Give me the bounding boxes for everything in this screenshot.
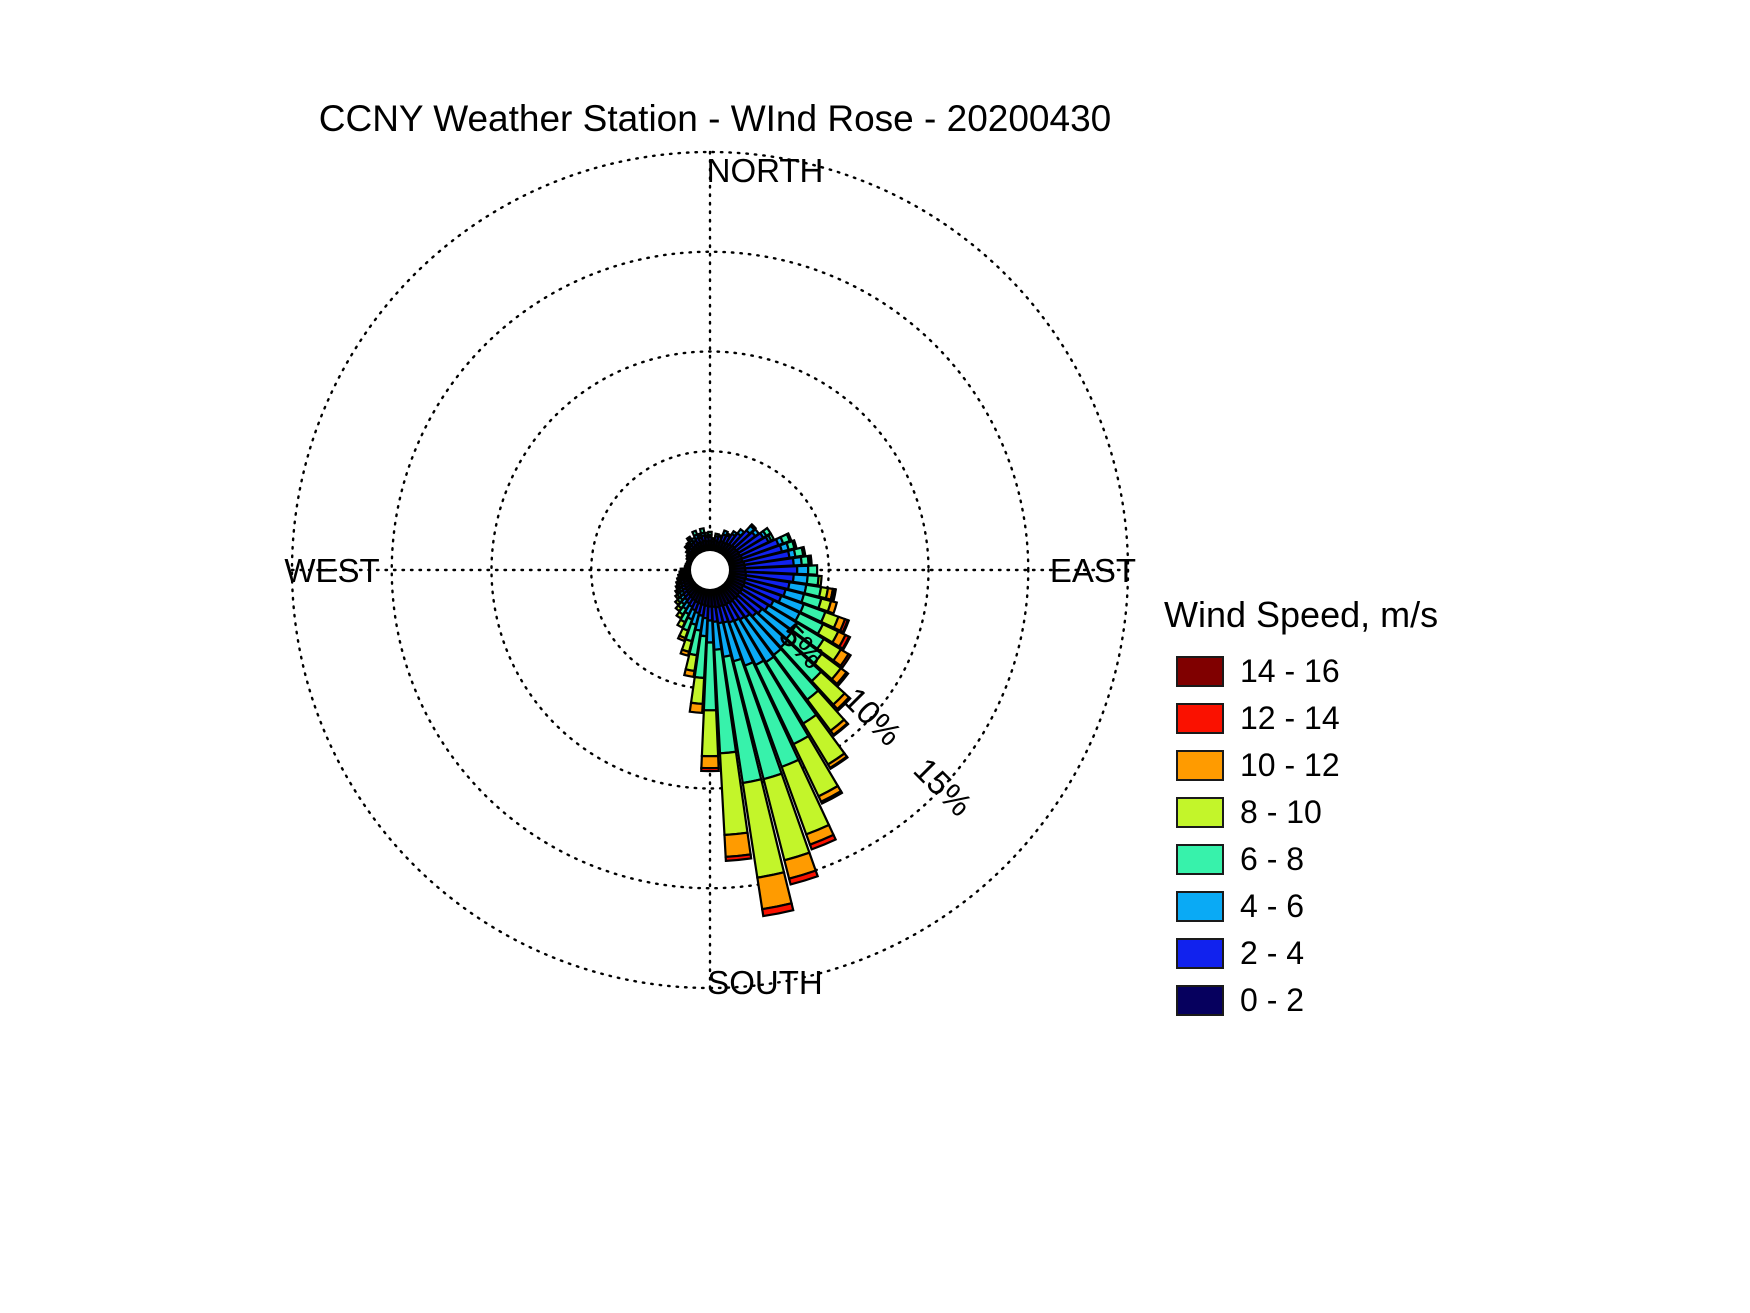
legend-item-0-2[interactable]: 0 - 2	[1176, 981, 1304, 1019]
rose-segment	[808, 565, 817, 574]
rose-segment	[702, 710, 718, 756]
legend-swatch-icon	[1176, 938, 1224, 969]
legend-item-6-8[interactable]: 6 - 8	[1176, 840, 1304, 878]
rose-segment	[684, 669, 694, 677]
rose-segment	[681, 569, 682, 572]
rose-segment	[687, 537, 691, 540]
legend-swatch-icon	[1176, 703, 1224, 734]
legend-swatch-icon	[1176, 844, 1224, 875]
wind-rose-petals	[675, 524, 850, 916]
legend-swatch-icon	[1176, 750, 1224, 781]
rose-segment	[724, 833, 750, 857]
legend-item-8-10[interactable]: 8 - 10	[1176, 793, 1322, 831]
rose-segment	[705, 533, 708, 536]
rose-segment	[706, 541, 709, 551]
compass-label-west: WEST	[284, 552, 379, 589]
legend-swatch-icon	[1176, 797, 1224, 828]
legend-item-label: 0 - 2	[1240, 984, 1304, 1016]
rose-segment	[802, 547, 806, 556]
compass-label-east: EAST	[1050, 552, 1136, 589]
legend-swatch-icon	[1176, 656, 1224, 687]
legend-title: Wind Speed, m/s	[1164, 594, 1438, 636]
rose-segment	[690, 703, 703, 713]
legend-item-label: 10 - 12	[1240, 749, 1340, 781]
rose-segment	[675, 600, 680, 605]
rose-segment	[677, 620, 685, 628]
rose-center-hole	[691, 551, 729, 589]
legend-item-label: 8 - 10	[1240, 796, 1322, 828]
legend-item-label: 2 - 4	[1240, 937, 1304, 969]
legend-item-label: 4 - 6	[1240, 890, 1304, 922]
legend-swatch-icon	[1176, 891, 1224, 922]
rose-segment	[681, 650, 689, 656]
rose-segment	[692, 531, 697, 536]
legend-swatch-icon	[1176, 985, 1224, 1016]
legend-item-14-16[interactable]: 14 - 16	[1176, 652, 1340, 690]
legend-panel: Wind Speed, m/s 14 - 1612 - 1410 - 128 -…	[1150, 580, 1750, 1030]
rose-segment	[797, 566, 808, 575]
rose-segment	[677, 612, 683, 618]
legend-item-4-6[interactable]: 4 - 6	[1176, 887, 1304, 925]
rose-segment	[691, 677, 704, 704]
legend-item-label: 12 - 14	[1240, 702, 1340, 734]
rose-segment	[701, 768, 719, 771]
wind-rose-page: CCNY Weather Station - WInd Rose - 20200…	[0, 0, 1750, 1313]
legend-item-label: 6 - 8	[1240, 843, 1304, 875]
legend-item-label: 14 - 16	[1240, 655, 1340, 687]
compass-label-south: SOUTH	[707, 964, 823, 1001]
rose-segment	[810, 556, 812, 565]
rose-segment	[818, 576, 822, 586]
legend-item-10-12[interactable]: 10 - 12	[1176, 746, 1340, 784]
rose-segment	[676, 606, 682, 612]
legend-item-12-14[interactable]: 12 - 14	[1176, 699, 1340, 737]
radial-tick-label-10: 10%	[836, 680, 909, 753]
radial-tick-label-15: 15%	[907, 750, 980, 823]
rose-segment	[701, 756, 718, 768]
compass-label-north: NORTH	[707, 152, 824, 189]
legend-item-2-4[interactable]: 2 - 4	[1176, 934, 1304, 972]
